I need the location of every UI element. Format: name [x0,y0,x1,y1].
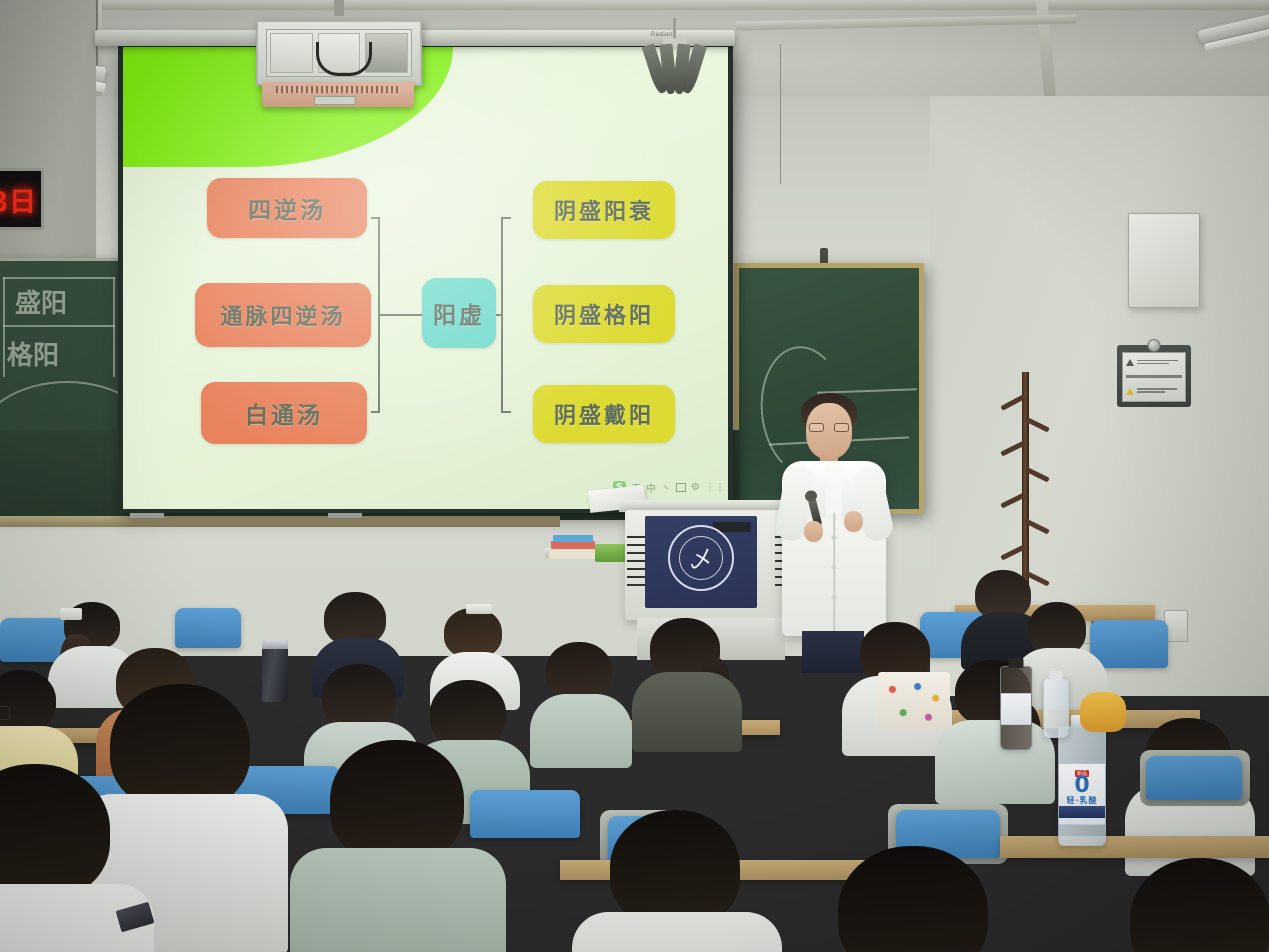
bottle-berry-art [1059,806,1105,818]
student-body [572,912,782,952]
placard-row [1126,375,1182,380]
book[interactable] [549,550,599,559]
plush-toy[interactable] [1080,692,1126,732]
fan-rod [673,18,676,40]
chalk-line [3,325,115,327]
student-head [330,740,464,864]
glasses-lens-left [809,423,824,432]
placard-row [1126,359,1182,366]
diagram-node-left-3: 白通汤 [201,382,367,444]
student-head [546,642,612,700]
projector-body [262,82,414,107]
placard-text-lines [1126,375,1182,380]
concept-diagram: 四逆汤 通脉四逆汤 白通汤 阳虚 阴盛阳衰 阴盛格阳 阴盛戴阳 [123,47,728,509]
thermos[interactable] [262,640,288,702]
bottle-product-name: 轻·乳酸 [1066,795,1097,806]
student-body [935,720,1055,804]
glasses-lens-right [834,423,849,432]
student-head [430,680,506,748]
drink-bottle-dark[interactable] [1000,666,1032,750]
book[interactable] [553,535,593,542]
connector-right-top [501,217,511,219]
diagram-node-left-2: 通脉四逆汤 [195,283,371,347]
student-head [610,810,740,928]
connector-right-bottom [501,411,511,413]
chalk-text-2: 格阳 [7,335,59,372]
ime-punct-icon[interactable]: 丶 [661,480,671,495]
diagram-node-right-1: 阴盛阳衰 [533,181,675,239]
presenter-glasses [809,423,849,432]
drink-bottle-small[interactable] [1043,678,1069,738]
placard-cap [1148,339,1161,352]
diagram-node-right-2: 阴盛格阳 [533,285,675,343]
projection-screen: 四逆汤 通脉四逆汤 白通汤 阳虚 阴盛阳衰 阴盛格阳 阴盛戴阳 S 五 中 丶 … [118,43,733,513]
projector-lens [314,96,356,105]
safety-notice-placard [1117,345,1191,407]
bottle-cap [1050,671,1063,680]
led-display-text: 3日 [0,180,37,219]
bottle-label: 新品 0 轻·乳酸 [1059,763,1105,825]
placard-face [1122,352,1186,402]
diagram-node-center: 阳虚 [422,278,496,348]
projector-mount [334,0,344,16]
hair-clip [466,604,492,614]
presentation-slide: 四逆汤 通脉四逆汤 白通汤 阳虚 阴盛阳衰 阴盛格阳 阴盛戴阳 S 五 中 丶 … [123,47,728,509]
student-head [0,670,56,732]
ime-menu-icon[interactable]: ⋮⋮ [705,482,725,493]
chalk-line [3,277,115,279]
lecture-hall-photo: 3日 盛阳 格阳 Radiant [0,0,1269,952]
chalk-text-1: 盛阳 [15,283,67,320]
student-audience: 新品 0 轻·乳酸 [0,560,1269,952]
student-head [110,684,250,810]
projector-cable [316,42,372,76]
ime-keyboard-icon[interactable] [676,483,686,492]
thermos-cap [262,640,288,649]
book[interactable] [551,541,595,549]
seat[interactable] [175,608,241,648]
connector-left-center [378,314,424,316]
desk-row [1000,836,1269,858]
diagram-node-left-1: 四逆汤 [207,178,367,238]
warning-triangle-icon [1126,359,1134,366]
ceiling-projector [256,12,422,107]
chalk-line [3,277,5,377]
coat-button [832,535,837,540]
screen-pull-cord[interactable] [780,44,781,184]
placard-row [1126,388,1182,395]
wall-led-display: 3日 [0,168,44,230]
student-head [444,608,502,658]
placard-text-lines [1137,360,1182,366]
chalk-line [113,277,115,377]
projector-vent [276,86,400,93]
ceiling-fan [645,34,705,96]
presenter-hand-right [844,511,863,532]
ceiling-beam [0,0,1269,10]
bottle-label [1001,693,1031,725]
printed-bag[interactable] [878,672,950,730]
seat[interactable] [470,790,580,838]
wall-panel-box [1128,213,1200,308]
student-head [322,664,396,730]
caution-triangle-icon [1126,388,1134,395]
bottle-zero-mark: 0 [1074,777,1089,795]
chalk-tray [0,516,560,527]
diagram-node-right-3: 阴盛戴阳 [533,385,675,443]
connector-left-bottom [371,411,380,413]
drink-bottle[interactable]: 新品 0 轻·乳酸 [1058,726,1106,846]
ime-toolbox-icon[interactable]: ⚙ [691,482,700,493]
bottle-cap [1009,658,1024,668]
projector-module [270,33,313,73]
connector-left-top [371,217,380,219]
seat[interactable] [1090,620,1168,668]
student-body [290,848,506,952]
student-body [530,694,632,768]
student-body [632,672,742,752]
presenter-hand-left [804,521,823,542]
ime-lang-icon[interactable]: 中 [646,480,656,495]
projector-cage [256,20,422,86]
placard-text-lines [1137,388,1182,394]
seat[interactable] [1146,756,1242,800]
eyeglasses [0,706,10,720]
hair-clip [60,608,82,620]
